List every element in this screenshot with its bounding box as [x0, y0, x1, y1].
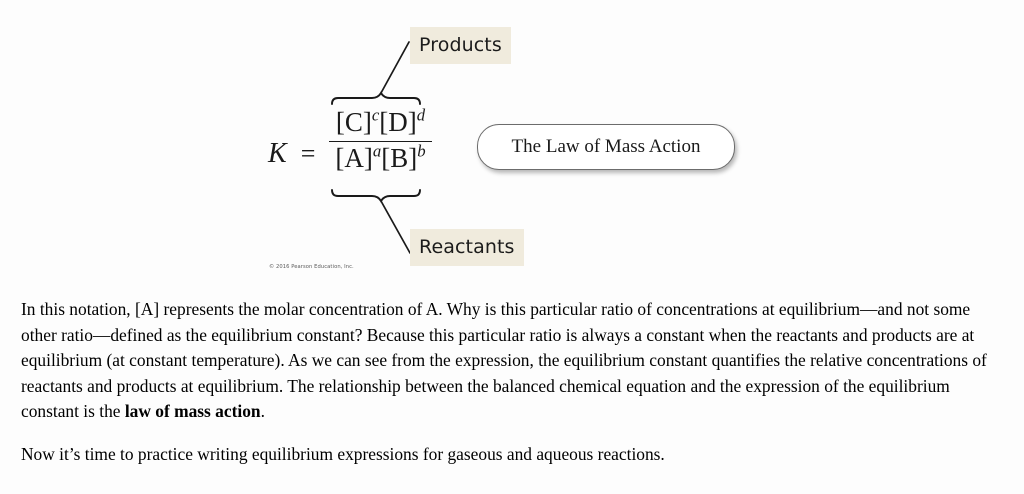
- denominator-term-b-base: [B]: [381, 143, 417, 173]
- law-of-mass-action-text: The Law of Mass Action: [512, 136, 701, 158]
- numerator-term-d-exponent: d: [417, 106, 425, 125]
- fraction-numerator: [C]c[D]d: [330, 106, 431, 141]
- paragraph-2: Now it’s time to practice writing equili…: [21, 442, 1005, 468]
- numerator-term-d-base: [D]: [379, 107, 416, 137]
- equation-fraction: [C]c[D]d [A]a[B]b: [329, 106, 431, 177]
- denominator-term-a-base: [A]: [335, 143, 372, 173]
- reactants-leader-line: [381, 201, 410, 253]
- equation-equals-sign: =: [301, 117, 330, 167]
- law-of-mass-action-term: law of mass action: [125, 401, 261, 421]
- products-leader-line: [381, 42, 409, 93]
- law-of-mass-action-callout-box: The Law of Mass Action: [477, 124, 735, 170]
- products-label: Products: [410, 27, 511, 64]
- body-text: In this notation, [A] represents the mol…: [21, 297, 1005, 468]
- denominator-term-a-exponent: a: [373, 142, 381, 161]
- denominator-brace: [332, 190, 420, 201]
- numerator-term-c-base: [C]: [336, 107, 372, 137]
- numerator-brace: [332, 93, 420, 104]
- paragraph-1: In this notation, [A] represents the mol…: [21, 297, 1005, 425]
- copyright-notice: © 2016 Pearson Education, Inc.: [269, 264, 354, 270]
- equilibrium-constant-equation: K = [C]c[D]d [A]a[B]b: [268, 106, 432, 177]
- fraction-denominator: [A]a[B]b: [329, 142, 431, 177]
- paragraph-1-tail: .: [261, 401, 265, 421]
- denominator-term-b-exponent: b: [417, 142, 425, 161]
- equation-k-symbol: K: [268, 116, 301, 168]
- reactants-label: Reactants: [410, 229, 524, 266]
- mass-action-figure: Products Reactants K = [C]c[D]d [A]a[B]b…: [0, 0, 1024, 288]
